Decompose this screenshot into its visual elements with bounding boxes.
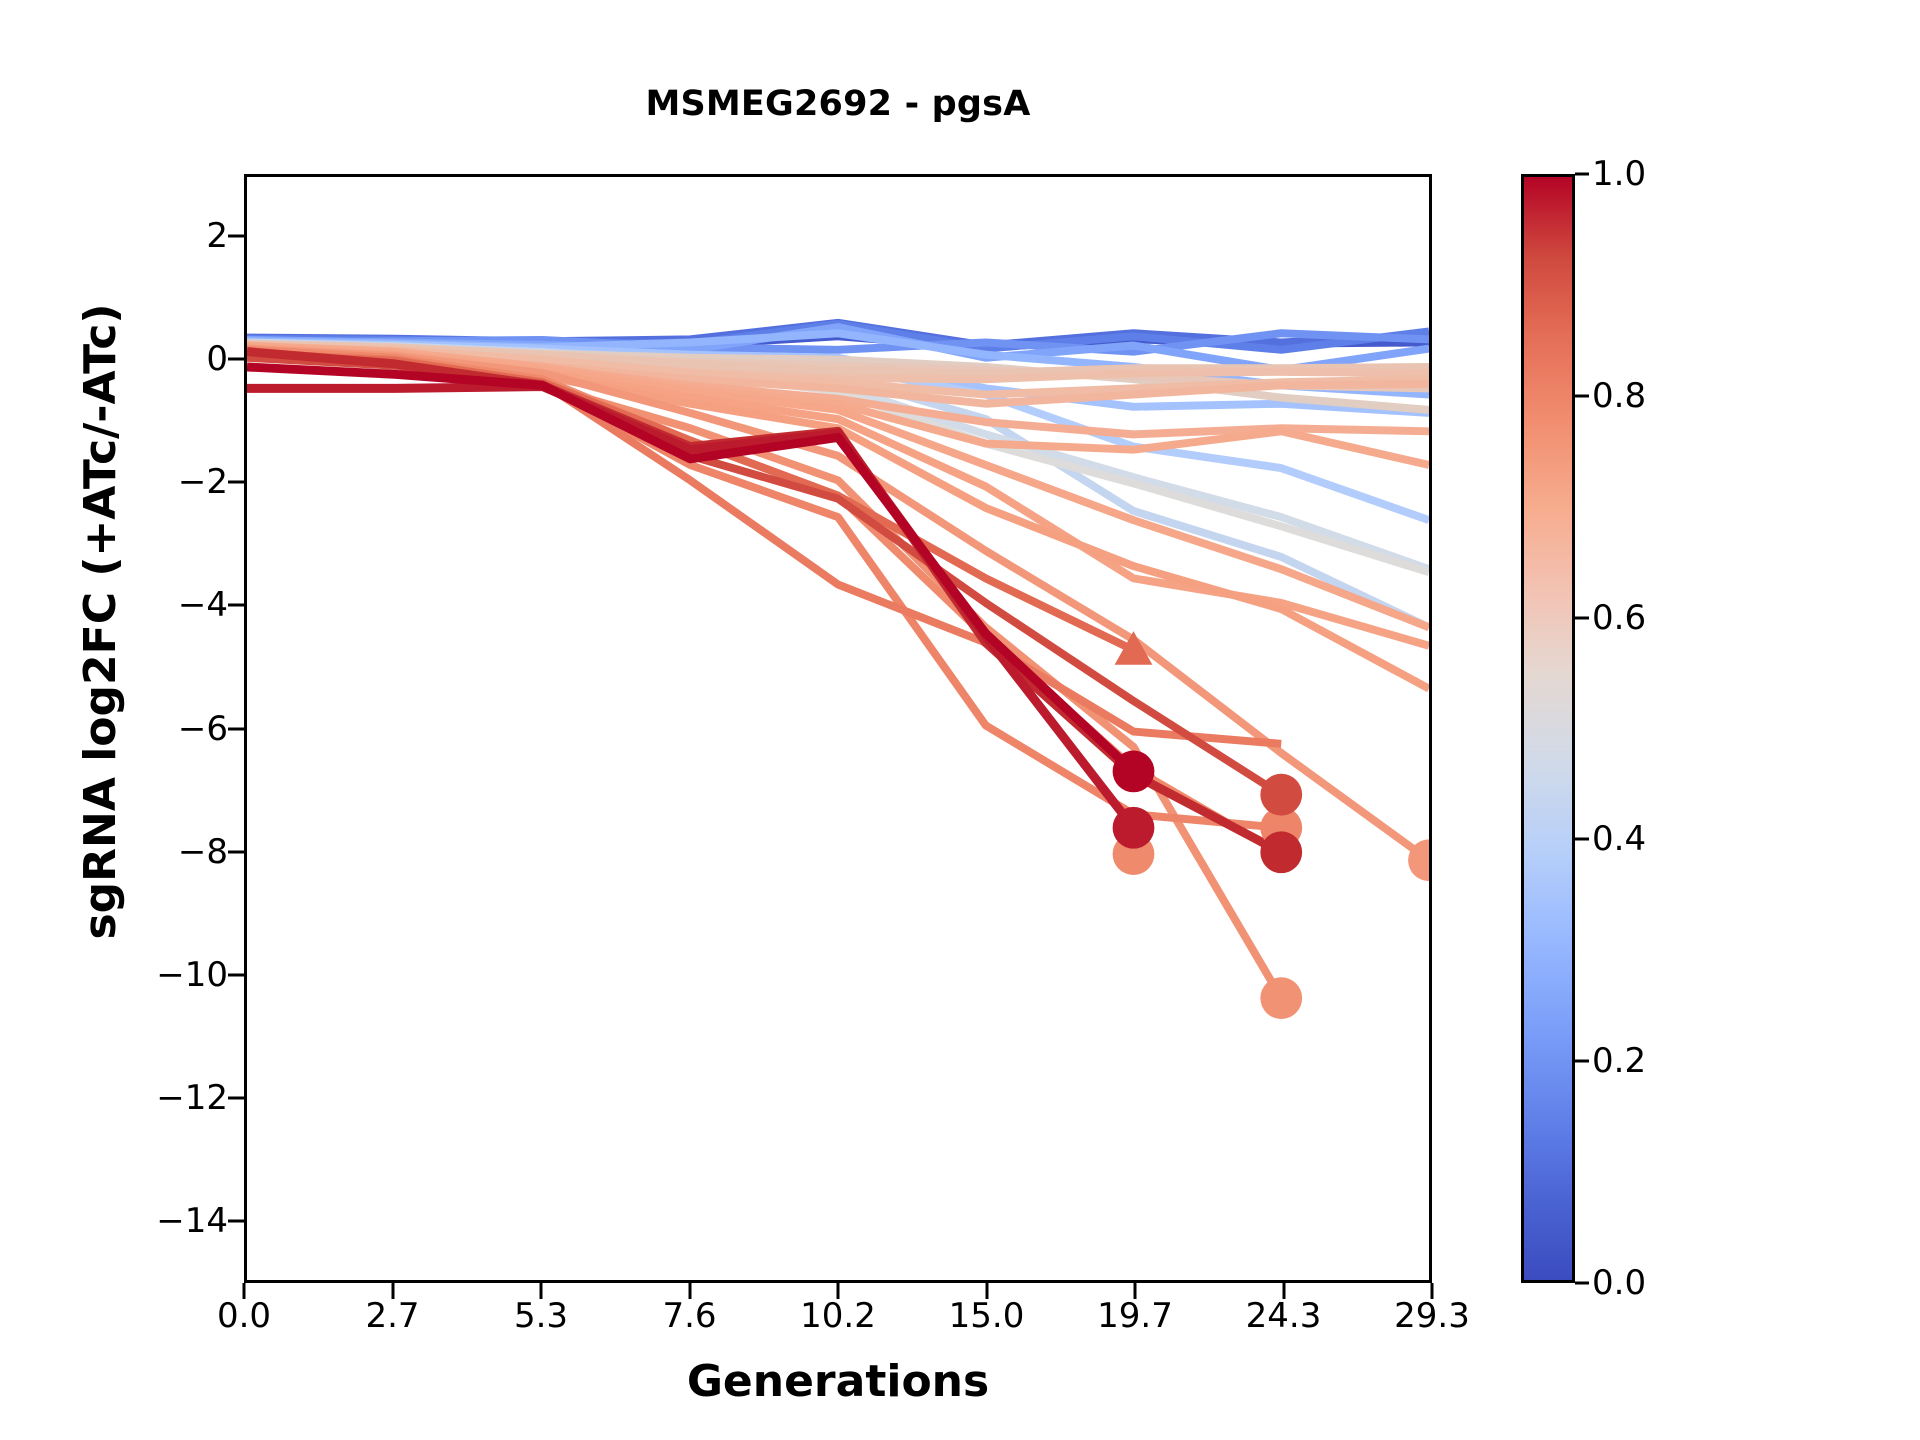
series-end-marker-circle (1113, 751, 1155, 793)
y-tick-mark (228, 357, 244, 360)
colorbar-tick-label: 0.4 (1592, 819, 1646, 859)
colorbar-tick-label: 0.6 (1592, 598, 1646, 638)
colorbar-tick-label: 0.0 (1592, 1263, 1646, 1303)
colorbar-tick-mark (1575, 1060, 1589, 1063)
x-tick-label: 10.2 (758, 1296, 918, 1336)
y-tick-mark (228, 973, 244, 976)
x-tick-mark (1282, 1283, 1285, 1299)
colorbar-tick-mark (1575, 1282, 1589, 1285)
x-tick-label: 2.7 (313, 1296, 473, 1336)
y-tick-mark (228, 234, 244, 237)
x-tick-mark (391, 1283, 394, 1299)
y-tick-label: −8 (48, 832, 228, 872)
colorbar-tick-mark (1575, 616, 1589, 619)
x-tick-label: 5.3 (461, 1296, 621, 1336)
x-tick-label: 7.6 (610, 1296, 770, 1336)
x-tick-mark (540, 1283, 543, 1299)
colorbar-tick-mark (1575, 173, 1589, 176)
series-end-marker-circle (1260, 774, 1302, 816)
series-line (247, 387, 1134, 828)
y-tick-label: −6 (48, 709, 228, 749)
x-tick-label: 15.0 (907, 1296, 1067, 1336)
colorbar-tick-mark (1575, 394, 1589, 397)
y-tick-mark (228, 850, 244, 853)
x-tick-label: 0.0 (164, 1296, 324, 1336)
colorbar-gradient (1521, 174, 1575, 1283)
y-tick-label: 2 (48, 216, 228, 256)
x-tick-mark (243, 1283, 246, 1299)
y-tick-mark (228, 604, 244, 607)
plot-area (244, 174, 1432, 1283)
figure-canvas: MSMEG2692 - pgsA sgRNA log2FC (+ATc/-ATc… (0, 0, 1920, 1440)
colorbar-tick-label: 0.2 (1592, 1041, 1646, 1081)
series-canvas (247, 177, 1429, 1280)
series-end-marker-circle (1260, 831, 1302, 873)
x-axis-label: Generations (244, 1356, 1432, 1407)
y-tick-label: −4 (48, 585, 228, 625)
x-tick-label: 29.3 (1352, 1296, 1512, 1336)
y-tick-label: −12 (48, 1078, 228, 1118)
series-end-marker-circle (1260, 977, 1302, 1019)
y-tick-mark (228, 727, 244, 730)
x-tick-mark (985, 1283, 988, 1299)
y-tick-mark (228, 1097, 244, 1100)
colorbar-tick-label: 1.0 (1592, 154, 1646, 194)
page-title: MSMEG2692 - pgsA (244, 84, 1432, 124)
x-tick-mark (1134, 1283, 1137, 1299)
y-tick-label: −2 (48, 462, 228, 502)
y-tick-label: −14 (48, 1201, 228, 1241)
colorbar-tick-label: 0.8 (1592, 376, 1646, 416)
y-tick-label: −10 (48, 955, 228, 995)
x-tick-mark (1431, 1283, 1434, 1299)
colorbar-tick-mark (1575, 838, 1589, 841)
x-tick-label: 24.3 (1204, 1296, 1364, 1336)
y-tick-label: 0 (48, 339, 228, 379)
series-end-marker-circle (1113, 807, 1155, 849)
x-tick-mark (688, 1283, 691, 1299)
x-tick-mark (837, 1283, 840, 1299)
y-tick-mark (228, 481, 244, 484)
y-tick-mark (228, 1220, 244, 1223)
x-tick-label: 19.7 (1055, 1296, 1215, 1336)
series-line (247, 358, 1281, 998)
